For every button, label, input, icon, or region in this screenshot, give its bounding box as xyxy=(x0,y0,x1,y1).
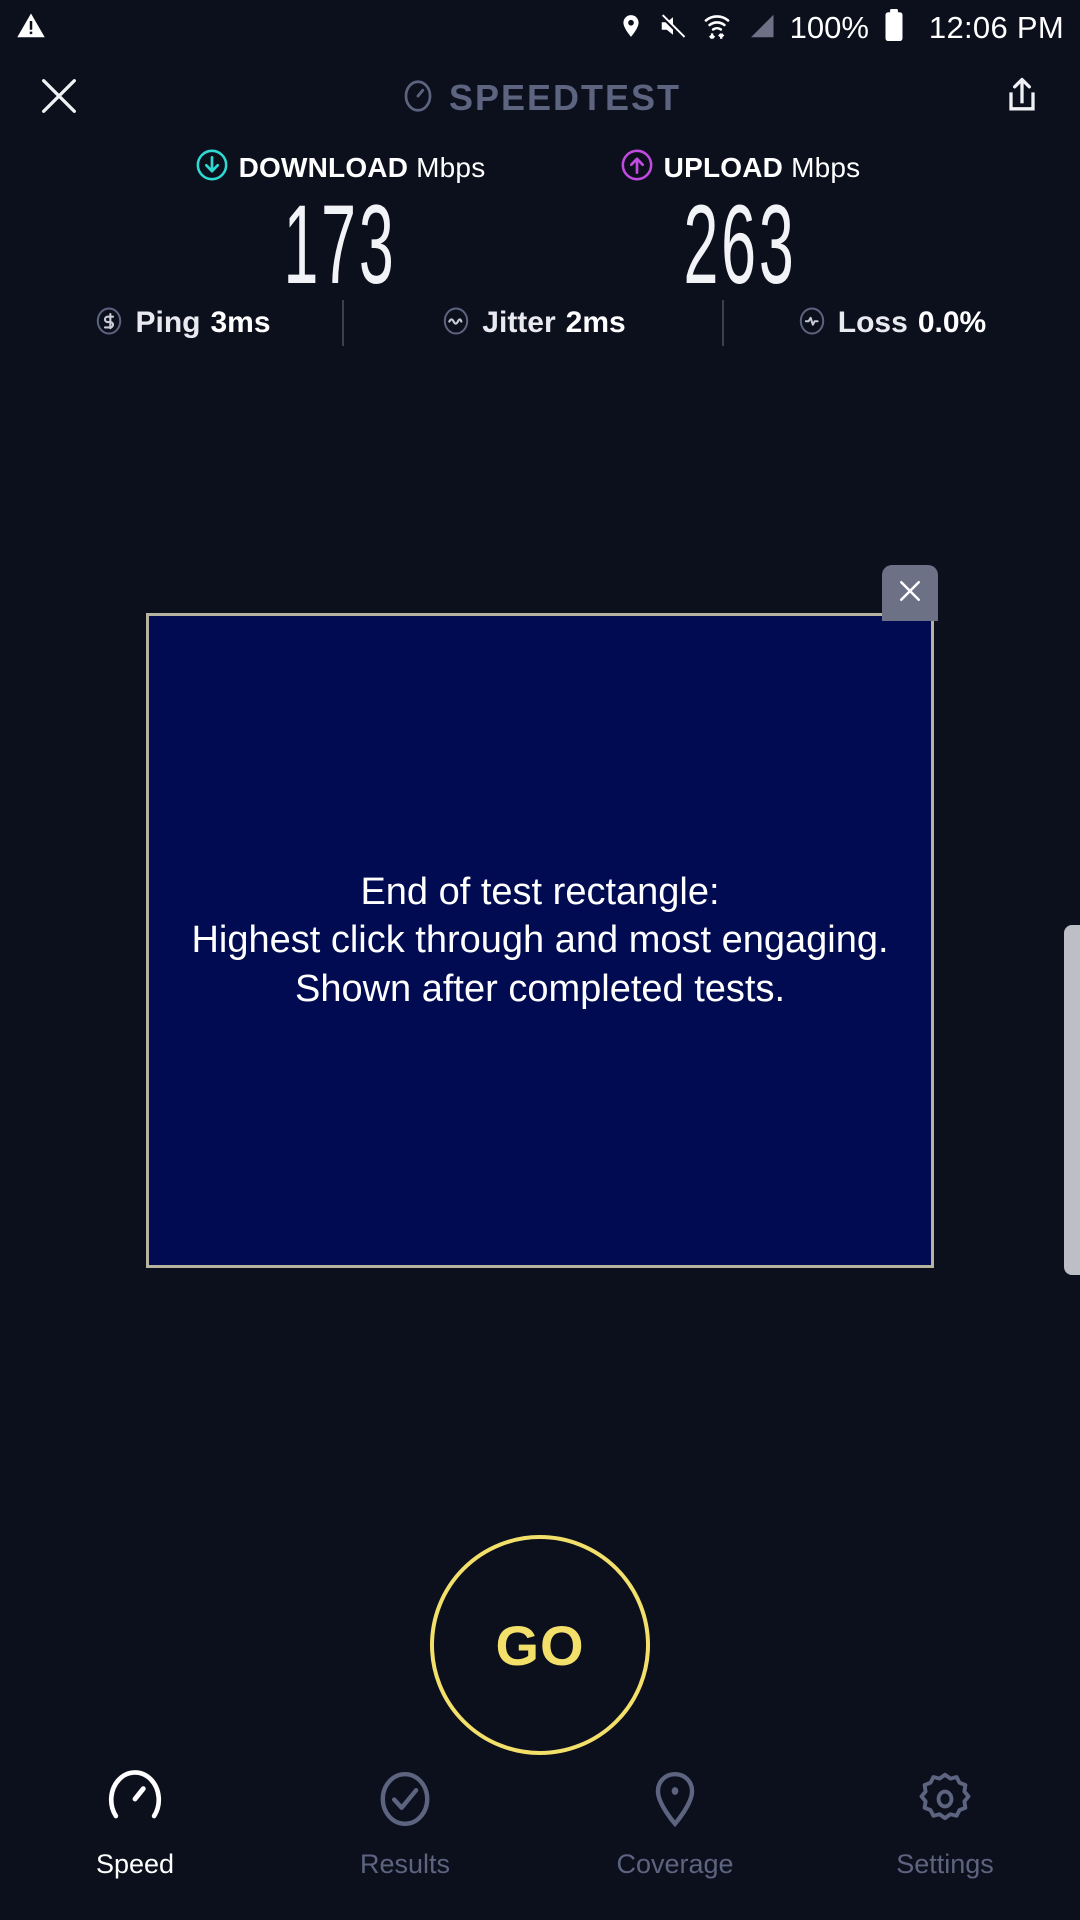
metrics-row: Ping 3ms Jitter 2ms Loss 0.0% xyxy=(0,300,1080,346)
status-bar: 100% 12:06 PM xyxy=(0,0,1080,56)
download-result: DOWNLOAD Mbps 173 xyxy=(175,148,505,296)
loss-icon xyxy=(796,305,828,342)
share-icon[interactable] xyxy=(1000,74,1044,123)
go-button[interactable]: GO xyxy=(430,1535,650,1755)
volume-mute-icon xyxy=(658,11,688,46)
metric-ping: Ping 3ms xyxy=(22,305,342,342)
upload-value: 263 xyxy=(648,193,833,296)
arrow-down-circle-icon xyxy=(195,148,229,187)
battery-full-icon xyxy=(883,9,905,48)
advertisement-text: End of test rectangle: Highest click thr… xyxy=(181,868,898,1014)
location-pin-icon xyxy=(618,11,644,46)
status-bar-left xyxy=(16,11,46,46)
metric-ping-label: Ping xyxy=(135,306,200,340)
ping-icon xyxy=(93,305,125,342)
speedtest-app-screen: 100% 12:06 PM SPEEDTEST xyxy=(0,0,1080,1920)
nav-item-speed[interactable]: Speed xyxy=(0,1768,270,1880)
nav-item-coverage[interactable]: Coverage xyxy=(540,1768,810,1880)
gear-icon xyxy=(914,1768,976,1835)
brand-title: SPEEDTEST xyxy=(449,77,681,119)
clock-label: 12:06 PM xyxy=(929,10,1064,46)
nav-label-results: Results xyxy=(360,1849,450,1880)
metric-loss-value: 0.0% xyxy=(918,306,986,340)
vertical-scrollbar-thumb[interactable] xyxy=(1064,925,1080,1275)
close-icon xyxy=(895,576,925,611)
battery-percent-label: 100% xyxy=(790,10,869,46)
nav-label-speed: Speed xyxy=(96,1849,174,1880)
metric-ping-value: 3ms xyxy=(210,306,270,340)
metric-ping-content: Ping 3ms xyxy=(93,305,270,342)
speed-values-row: DOWNLOAD Mbps 173 UPLOAD Mbps 263 xyxy=(0,140,1080,296)
wifi-icon xyxy=(702,10,732,47)
download-value: 173 xyxy=(248,193,433,296)
advertisement-banner[interactable]: End of test rectangle: Highest click thr… xyxy=(146,613,934,1268)
upload-label: UPLOAD Mbps xyxy=(664,152,861,184)
nav-item-settings[interactable]: Settings xyxy=(810,1768,1080,1880)
status-bar-right: 100% 12:06 PM xyxy=(618,9,1064,48)
metric-loss-content: Loss 0.0% xyxy=(796,305,986,342)
arrow-up-circle-icon xyxy=(620,148,654,187)
warning-triangle-icon xyxy=(16,11,46,46)
bottom-navigation-bar: Speed Results Coverage Settings xyxy=(0,1760,1080,1920)
metric-jitter-content: Jitter 2ms xyxy=(440,305,625,342)
speedometer-icon xyxy=(104,1768,166,1835)
speed-results-panel: DOWNLOAD Mbps 173 UPLOAD Mbps 263 xyxy=(0,140,1080,296)
metric-jitter: Jitter 2ms xyxy=(344,305,722,342)
app-header: SPEEDTEST xyxy=(0,56,1080,140)
nav-label-settings: Settings xyxy=(896,1849,994,1880)
metric-loss: Loss 0.0% xyxy=(724,305,1058,342)
metric-jitter-label: Jitter xyxy=(482,306,555,340)
nav-item-results[interactable]: Results xyxy=(270,1768,540,1880)
upload-result: UPLOAD Mbps 263 xyxy=(575,148,905,296)
download-label: DOWNLOAD Mbps xyxy=(239,152,486,184)
metric-jitter-value: 2ms xyxy=(566,306,626,340)
cellular-signal-icon xyxy=(746,11,776,46)
metric-loss-label: Loss xyxy=(838,306,908,340)
brand-lockup: SPEEDTEST xyxy=(0,77,1080,120)
advertisement-close-button[interactable] xyxy=(882,565,938,621)
go-button-label: GO xyxy=(495,1613,584,1678)
nav-label-coverage: Coverage xyxy=(616,1849,733,1880)
speedometer-icon xyxy=(399,77,437,120)
location-pin-icon xyxy=(644,1768,706,1835)
check-circle-icon xyxy=(374,1768,436,1835)
jitter-icon xyxy=(440,305,472,342)
close-icon[interactable] xyxy=(36,73,82,124)
